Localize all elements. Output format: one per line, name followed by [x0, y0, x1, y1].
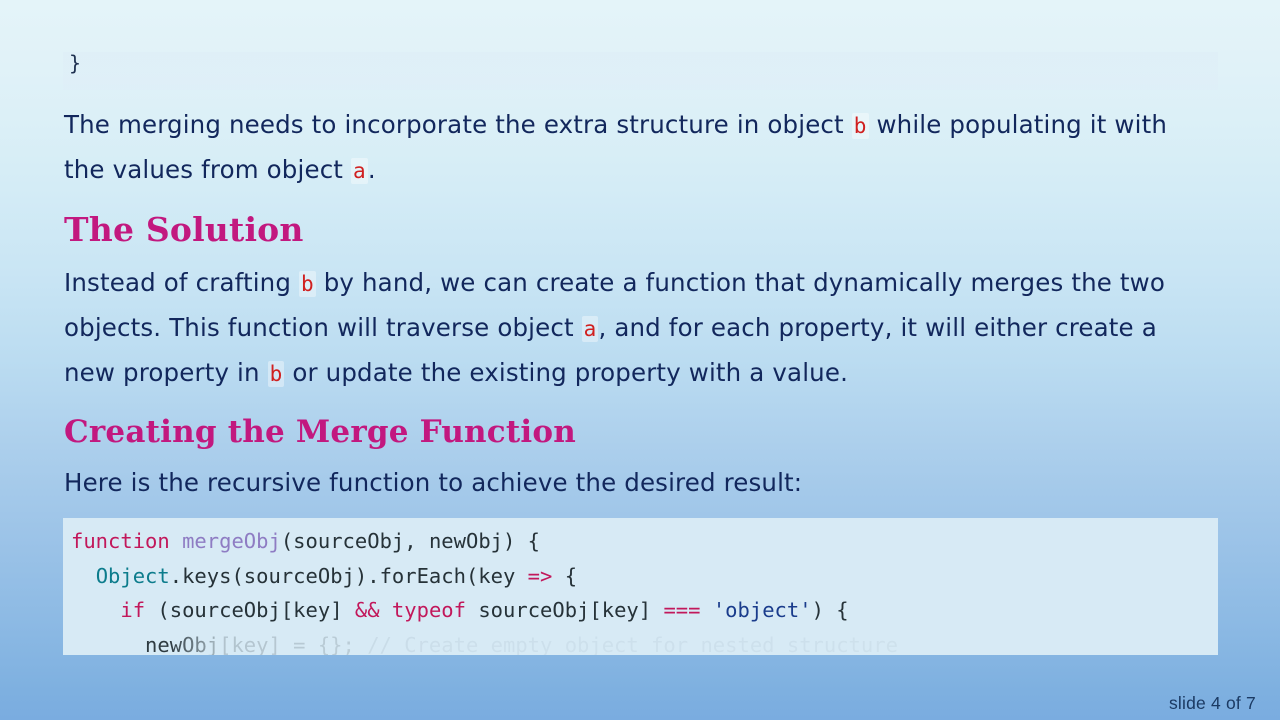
code-token-kw: if	[120, 598, 145, 622]
code-block-merge-function: function mergeObj(sourceObj, newObj) { O…	[63, 518, 1218, 655]
code-token-plain: (sourceObj, newObj) {	[281, 529, 540, 553]
code-token-fn: mergeObj	[182, 529, 281, 553]
text-segment: or update the existing property with a v…	[284, 358, 848, 387]
code-token-plain	[71, 598, 120, 622]
inline-code-b: b	[299, 271, 316, 297]
code-token-op: &&	[355, 598, 380, 622]
code-token-op: ===	[663, 598, 700, 622]
code-token-comment: // Create empty object for nested struct…	[367, 633, 898, 656]
code-token-str: 'object'	[713, 598, 812, 622]
text-segment: .	[368, 155, 376, 184]
inline-code-b: b	[852, 113, 869, 139]
slide-counter: slide 4 of 7	[1169, 693, 1256, 714]
text-segment: The merging needs to incorporate the ext…	[64, 110, 852, 139]
heading-the-solution: The Solution	[64, 208, 304, 252]
code-token-op: =>	[528, 564, 553, 588]
paragraph-solution: Instead of crafting b by hand, we can cr…	[64, 261, 1204, 396]
code-line: Object.keys(sourceObj).forEach(key => {	[71, 559, 1210, 594]
code-token-builtin: Object	[96, 564, 170, 588]
code-token-plain: sourceObj[key]	[466, 598, 663, 622]
code-token-plain: newObj[key] = {};	[71, 633, 367, 656]
text-segment: Instead of crafting	[64, 268, 299, 297]
inline-code-a: a	[351, 158, 368, 184]
code-line: }	[69, 52, 1212, 80]
code-token-plain	[71, 564, 96, 588]
code-line: function mergeObj(sourceObj, newObj) {	[71, 524, 1210, 559]
code-token-plain: (sourceObj[key]	[145, 598, 355, 622]
code-token-plain	[170, 529, 182, 553]
code-line: newObj[key] = {}; // Create empty object…	[71, 628, 1210, 656]
inline-code-b: b	[268, 361, 285, 387]
code-block-previous-fragment: }	[63, 52, 1218, 90]
code-token-plain	[701, 598, 713, 622]
code-token-plain	[380, 598, 392, 622]
code-token-kw: typeof	[392, 598, 466, 622]
heading-creating-the-merge-function: Creating the Merge Function	[64, 410, 576, 454]
slide-canvas: } The merging needs to incorporate the e…	[0, 0, 1280, 720]
code-line: if (sourceObj[key] && typeof sourceObj[k…	[71, 593, 1210, 628]
code-token-plain: {	[552, 564, 577, 588]
paragraph-intro: The merging needs to incorporate the ext…	[64, 103, 1204, 193]
paragraph-merge-intro: Here is the recursive function to achiev…	[64, 461, 1204, 505]
code-token-kw: function	[71, 529, 170, 553]
code-token-plain: .keys(sourceObj).forEach(key	[170, 564, 528, 588]
inline-code-a: a	[582, 316, 599, 342]
code-token-plain: ) {	[812, 598, 849, 622]
